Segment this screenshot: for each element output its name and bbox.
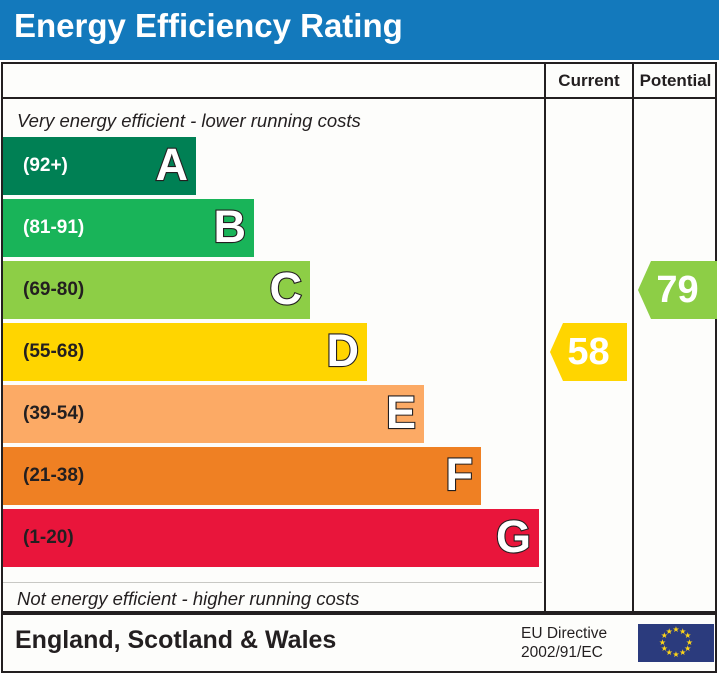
column-divider-potential: [632, 99, 634, 613]
band-bar-d: (55-68)D: [3, 323, 367, 381]
band-letter-a: A: [156, 137, 189, 195]
band-range-f: (21-38): [23, 447, 84, 505]
band-bar-e: (39-54)E: [3, 385, 424, 443]
epc-certificate-chart: Energy Efficiency Rating Current Potenti…: [0, 0, 719, 675]
caption-efficient: Very energy efficient - lower running co…: [17, 110, 361, 132]
band-range-b: (81-91): [23, 199, 84, 257]
band-letter-b: B: [214, 199, 247, 257]
band-bar-a: (92+)A: [3, 137, 196, 195]
band-letter-f: F: [446, 447, 474, 505]
column-header-current: Current: [544, 64, 632, 97]
eu-flag-star: ★: [665, 628, 674, 637]
column-divider-current: [544, 99, 546, 613]
band-range-a: (92+): [23, 137, 68, 195]
region-label: England, Scotland & Wales: [15, 626, 336, 655]
band-bar-g: (1-20)G: [3, 509, 539, 567]
rating-marker-current: 58: [550, 323, 627, 381]
eu-flag-icon: ★★★★★★★★★★★★: [638, 624, 714, 662]
table-header-row: Current Potential: [3, 64, 715, 99]
eu-directive-line1: EU Directive: [521, 624, 607, 643]
band-letter-g: G: [496, 509, 531, 567]
caption-divider: [3, 582, 542, 583]
band-letter-d: D: [327, 323, 360, 381]
band-bar-c: (69-80)C: [3, 261, 310, 319]
band-bar-f: (21-38)F: [3, 447, 481, 505]
band-bar-b: (81-91)B: [3, 199, 254, 257]
caption-inefficient: Not energy efficient - higher running co…: [17, 588, 359, 610]
band-range-e: (39-54): [23, 385, 84, 443]
chart-title-bar: Energy Efficiency Rating: [0, 0, 719, 60]
eu-directive-label: EU Directive 2002/91/EC: [521, 624, 607, 662]
column-header-potential: Potential: [632, 64, 717, 97]
band-letter-c: C: [270, 261, 303, 319]
band-range-g: (1-20): [23, 509, 74, 567]
eu-directive-line2: 2002/91/EC: [521, 643, 607, 662]
band-range-c: (69-80): [23, 261, 84, 319]
page-title: Energy Efficiency Rating: [14, 7, 403, 45]
rating-table: Current Potential Very energy efficient …: [1, 62, 717, 613]
rating-marker-potential: 79: [638, 261, 717, 319]
footer-bar: England, Scotland & Wales EU Directive 2…: [1, 613, 717, 673]
band-letter-e: E: [386, 385, 416, 443]
band-range-d: (55-68): [23, 323, 84, 381]
